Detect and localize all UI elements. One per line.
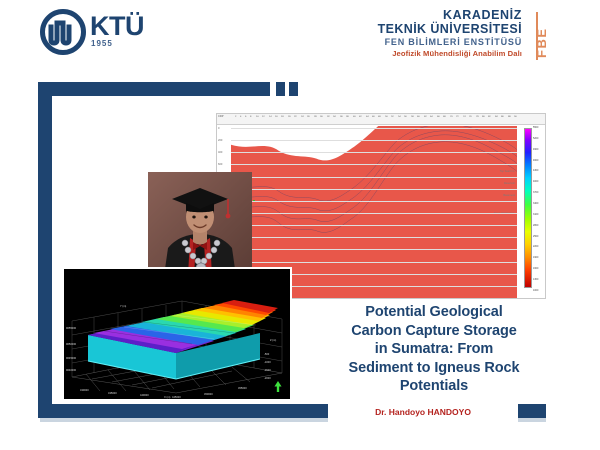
svg-text:9640000: 9640000 (66, 368, 77, 372)
colorbar-tick-7: 3400 (533, 202, 543, 205)
x-tick-16: 34 (333, 115, 335, 123)
colorbar-tick-4: 4300 (533, 169, 543, 172)
svg-text:455000: 455000 (238, 386, 247, 390)
colorbar-tick-2: 4900 (533, 148, 543, 151)
gridline-6 (231, 201, 517, 202)
poster-header: KTÜ 1955 KARADENİZ TEKNİK ÜNİVERSİTESİ F… (0, 0, 600, 76)
svg-text:450000: 450000 (204, 392, 213, 396)
x-tick-27: 56 (404, 115, 406, 123)
gridline-11 (231, 262, 517, 263)
gridline-2 (231, 152, 517, 153)
x-tick-19: 40 (353, 115, 355, 123)
x-tick-41: 84 (495, 115, 497, 123)
frame-top-bar (38, 82, 270, 96)
gridline-1 (231, 140, 517, 141)
gridline-4 (231, 177, 517, 178)
x-tick-43: 88 (508, 115, 510, 123)
x-tick-24: 50 (385, 115, 387, 123)
ktu-wordmark-block: KTÜ 1955 (90, 12, 144, 48)
x-tick-26: 54 (398, 115, 400, 123)
3d-surface-plot: 430000435000 440000445000 450000455000 9… (64, 269, 290, 399)
svg-text:435000: 435000 (108, 391, 117, 395)
svg-text:445000: 445000 (172, 395, 181, 399)
frame-bottom-bar-left (38, 404, 328, 418)
svg-text:9645000: 9645000 (66, 356, 77, 360)
x-tick-23: 48 (379, 115, 381, 123)
institution-block: KARADENİZ TEKNİK ÜNİVERSİTESİ FEN BİLİML… (378, 8, 522, 59)
colorbar-tick-15: 1000 (533, 289, 543, 292)
x-tick-13: 28 (314, 115, 316, 123)
x-tick-4: 10 (256, 115, 258, 123)
gridline-10 (231, 249, 517, 250)
ktu-logo: KTÜ 1955 (40, 9, 152, 59)
graduation-portrait-illustration (148, 172, 252, 276)
frame-accent-bar-1 (276, 82, 285, 96)
x-tick-20: 42 (359, 115, 361, 123)
x-tick-17: 36 (340, 115, 342, 123)
colorbar-tick-1: 5200 (533, 137, 543, 140)
x-tick-21: 44 (366, 115, 368, 123)
horizon-label-0: Top Seal Fm. (500, 170, 515, 173)
x-tick-42: 86 (502, 115, 504, 123)
colorbar-tick-9: 2800 (533, 224, 543, 227)
x-tick-32: 66 (437, 115, 439, 123)
x-tick-30: 62 (424, 115, 426, 123)
x-tick-0: 2 (235, 115, 236, 123)
x-tick-7: 16 (275, 115, 277, 123)
svg-text:-2000: -2000 (264, 376, 271, 380)
x-tick-38: 78 (476, 115, 478, 123)
institution-line-3: FEN BİLİMLERİ ENSTİTÜSÜ (378, 36, 522, 48)
y-tick-3: 600 (218, 163, 222, 166)
horizon-label-2: Basement (503, 194, 515, 197)
x-tick-39: 80 (482, 115, 484, 123)
colorbar-tick-12: 1900 (533, 256, 543, 259)
svg-text:-1000: -1000 (264, 360, 271, 364)
x-tick-11: 24 (301, 115, 303, 123)
gridline-5 (231, 189, 517, 190)
seismic-colorbar-ticks: 5500520049004600430040003700340031002800… (533, 126, 543, 292)
colorbar-tick-8: 3100 (533, 213, 543, 216)
3d-geological-block-model: 430000435000 440000445000 450000455000 9… (62, 267, 292, 401)
svg-text:Y (m): Y (m) (120, 304, 126, 308)
svg-text:9655000: 9655000 (66, 326, 77, 330)
title-line-5: Potentials (316, 377, 552, 396)
presentation-poster: KTÜ 1955 KARADENİZ TEKNİK ÜNİVERSİTESİ F… (0, 0, 600, 450)
institution-line-1: KARADENİZ (378, 8, 522, 22)
x-tick-29: 60 (417, 115, 419, 123)
seismic-top-axis: CDP 246810121416182022242628303234363840… (217, 114, 545, 125)
author-name: Dr. Handoyo HANDOYO (328, 407, 518, 417)
page-title: Potential Geological Carbon Capture Stor… (316, 303, 552, 396)
x-tick-22: 46 (372, 115, 374, 123)
x-tick-37: 76 (469, 115, 471, 123)
ktu-wordmark: KTÜ (90, 12, 144, 40)
svg-text:440000: 440000 (140, 393, 149, 397)
title-line-1: Potential Geological (316, 303, 552, 322)
horizon-label-1: Reservoir (504, 182, 515, 185)
x-tick-8: 18 (282, 115, 284, 123)
ktu-circle-logo-icon (40, 9, 86, 55)
x-tick-6: 14 (269, 115, 271, 123)
x-tick-3: 8 (250, 115, 251, 123)
title-line-3: in Sumatra: From (316, 340, 552, 359)
frame-accent-bar-2 (289, 82, 298, 96)
x-tick-12: 26 (307, 115, 309, 123)
x-tick-44: 90 (514, 115, 516, 123)
colorbar-tick-5: 4000 (533, 180, 543, 183)
x-tick-35: 72 (456, 115, 458, 123)
svg-text:430000: 430000 (80, 388, 89, 392)
seismic-colorbar (524, 128, 532, 288)
north-arrow-icon (274, 381, 282, 392)
title-line-4: Sediment to Igneus Rock (316, 359, 552, 378)
frame-left-bar (38, 82, 52, 418)
colorbar-tick-6: 3700 (533, 191, 543, 194)
y-tick-1: 200 (218, 139, 222, 142)
x-tick-18: 38 (346, 115, 348, 123)
gridline-7 (231, 213, 517, 214)
institution-line-4: Jeofizik Mühendisliği Anabilim Dalı (378, 48, 522, 59)
x-tick-31: 64 (430, 115, 432, 123)
x-tick-5: 12 (262, 115, 264, 123)
avatar (148, 172, 252, 276)
seismic-axis-corner-label: CDP (218, 115, 223, 118)
colorbar-tick-14: 1300 (533, 278, 543, 281)
colorbar-tick-3: 4600 (533, 159, 543, 162)
gridline-9 (231, 237, 517, 238)
svg-text:-500: -500 (264, 352, 270, 356)
y-tick-2: 400 (218, 151, 222, 154)
y-tick-0: 0 (218, 127, 219, 130)
fbe-badge: FBE (534, 18, 570, 58)
x-tick-2: 6 (245, 115, 246, 123)
title-line-2: Carbon Capture Storage (316, 322, 552, 341)
colorbar-tick-13: 1600 (533, 267, 543, 270)
colorbar-tick-0: 5500 (533, 126, 543, 129)
colorbar-tick-10: 2500 (533, 235, 543, 238)
gridline-3 (231, 164, 517, 165)
seismic-x-tick-labels: 2468101214161820222426283032343638404244… (235, 115, 517, 124)
x-tick-14: 30 (320, 115, 322, 123)
institution-line-2: TEKNİK ÜNİVERSİTESİ (378, 22, 522, 36)
gridline-8 (231, 225, 517, 226)
svg-text:-1500: -1500 (264, 368, 271, 372)
x-tick-25: 52 (392, 115, 394, 123)
svg-text:9650000: 9650000 (66, 342, 77, 346)
gridline-0 (231, 128, 517, 129)
svg-text:X (m): X (m) (164, 395, 170, 399)
x-tick-34: 70 (450, 115, 452, 123)
frame-bottom-bar-right (518, 404, 546, 418)
x-tick-1: 4 (240, 115, 241, 123)
x-tick-28: 58 (411, 115, 413, 123)
x-tick-36: 74 (463, 115, 465, 123)
x-tick-33: 68 (443, 115, 445, 123)
x-tick-15: 32 (327, 115, 329, 123)
x-tick-9: 20 (288, 115, 290, 123)
svg-text:Z (m): Z (m) (270, 338, 276, 342)
colorbar-tick-11: 2200 (533, 245, 543, 248)
x-tick-10: 22 (295, 115, 297, 123)
x-tick-40: 82 (489, 115, 491, 123)
